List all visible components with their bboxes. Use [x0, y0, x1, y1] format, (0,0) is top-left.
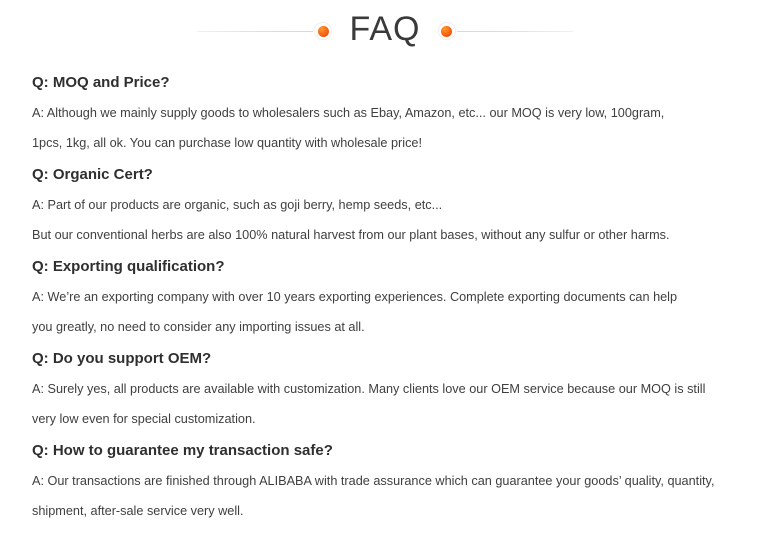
faq-header: FAQ — [0, 0, 770, 62]
header-rule-left — [197, 31, 313, 32]
faq-question: Q: Exporting qualification? — [32, 252, 770, 282]
faq-answer-line: A: Although we mainly supply goods to wh… — [32, 98, 770, 128]
faq-question: Q: Organic Cert? — [32, 160, 770, 190]
faq-answer-line: A: Part of our products are organic, suc… — [32, 190, 770, 220]
faq-list: Q: MOQ and Price? A: Although we mainly … — [0, 62, 770, 526]
faq-answer-line: very low even for special customization. — [32, 404, 770, 434]
faq-question: Q: How to guarantee my transaction safe? — [32, 436, 770, 466]
orange-dot-icon-right — [439, 23, 455, 39]
faq-answer-line: But our conventional herbs are also 100%… — [32, 220, 770, 250]
faq-answer-line: A: Our transactions are finished through… — [32, 466, 770, 496]
faq-item: Q: Organic Cert? A: Part of our products… — [32, 160, 770, 250]
faq-item: Q: How to guarantee my transaction safe?… — [32, 436, 770, 526]
faq-question: Q: Do you support OEM? — [32, 344, 770, 374]
faq-item: Q: Do you support OEM? A: Surely yes, al… — [32, 344, 770, 434]
faq-answer-line: you greatly, no need to consider any imp… — [32, 312, 770, 342]
faq-answer-line: A: Surely yes, all products are availabl… — [32, 374, 770, 404]
faq-item: Q: Exporting qualification? A: We’re an … — [32, 252, 770, 342]
faq-answer-line: 1pcs, 1kg, all ok. You can purchase low … — [32, 128, 770, 158]
page-title: FAQ — [333, 12, 436, 50]
faq-question: Q: MOQ and Price? — [32, 68, 770, 98]
orange-dot-icon-left — [315, 23, 331, 39]
header-rule-right — [457, 31, 573, 32]
faq-answer-line: shipment, after-sale service very well. — [32, 496, 770, 526]
faq-answer-line: A: We’re an exporting company with over … — [32, 282, 770, 312]
faq-page: FAQ Q: MOQ and Price? A: Although we mai… — [0, 0, 770, 544]
faq-item: Q: MOQ and Price? A: Although we mainly … — [32, 68, 770, 158]
